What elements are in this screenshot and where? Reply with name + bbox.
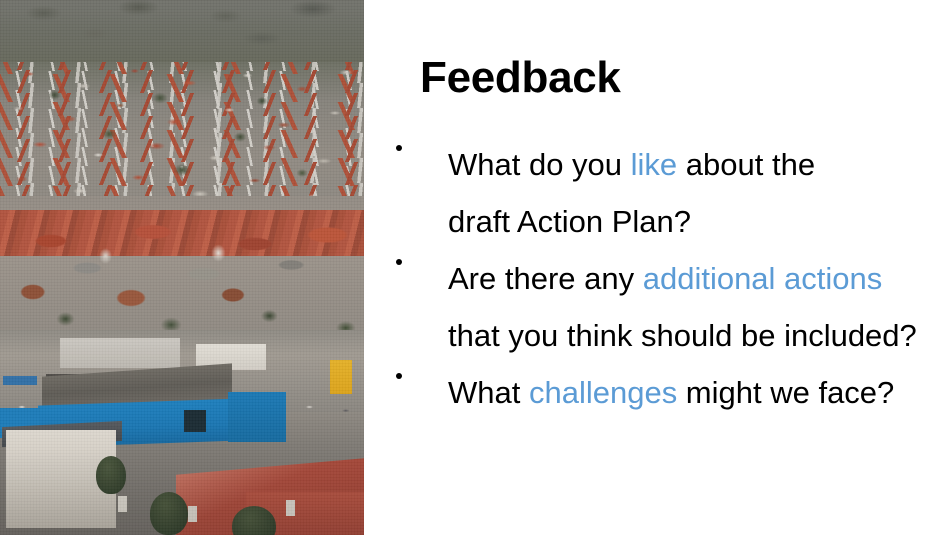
bullet-text: Are there any additional actionsthat you…: [394, 250, 942, 364]
foreground-tree: [150, 492, 188, 535]
bullet-line: that you think should be included?: [448, 307, 942, 364]
highlighted-phrase: like: [631, 147, 678, 182]
bullet-line: What do you like about the: [448, 136, 942, 193]
text-run: that you think should be included?: [448, 318, 917, 353]
chimney: [286, 500, 295, 516]
chimney: [118, 496, 127, 512]
bullet-dot-icon: [396, 145, 402, 151]
text-run: What: [448, 375, 529, 410]
slide-canvas: Feedback What do you like about thedraft…: [0, 0, 951, 535]
text-run: draft Action Plan?: [448, 204, 691, 239]
bullet-item: What challenges might we face?: [394, 364, 942, 421]
bullet-dot-icon: [396, 373, 402, 379]
text-run: Are there any: [448, 261, 643, 296]
chimney: [188, 506, 197, 522]
warehouse-wall-side: [228, 392, 286, 442]
bullet-item: What do you like about thedraft Action P…: [394, 136, 942, 250]
text-run: about the: [677, 147, 815, 182]
bullet-dot-icon: [396, 259, 402, 265]
highlighted-phrase: additional actions: [643, 261, 883, 296]
highlighted-phrase: challenges: [529, 375, 677, 410]
bullet-text: What challenges might we face?: [394, 364, 942, 421]
bullet-line: What challenges might we face?: [448, 364, 942, 421]
bullet-item: Are there any additional actionsthat you…: [394, 250, 942, 364]
warehouse-door: [184, 410, 206, 432]
text-run: What do you: [448, 147, 631, 182]
terrace-housing-band: [0, 196, 364, 346]
bullet-line: draft Action Plan?: [448, 193, 942, 250]
slide-text-panel: Feedback What do you like about thedraft…: [364, 0, 951, 535]
bullet-line: Are there any additional actions: [448, 250, 942, 307]
upper-rooftops: [0, 62, 364, 212]
bullet-list: What do you like about thedraft Action P…: [394, 136, 942, 421]
foreground-tree: [96, 456, 126, 494]
text-run: might we face?: [677, 375, 894, 410]
aerial-townscape-photo: [0, 0, 364, 535]
bullet-text: What do you like about thedraft Action P…: [394, 136, 942, 250]
page-title: Feedback: [420, 53, 621, 103]
